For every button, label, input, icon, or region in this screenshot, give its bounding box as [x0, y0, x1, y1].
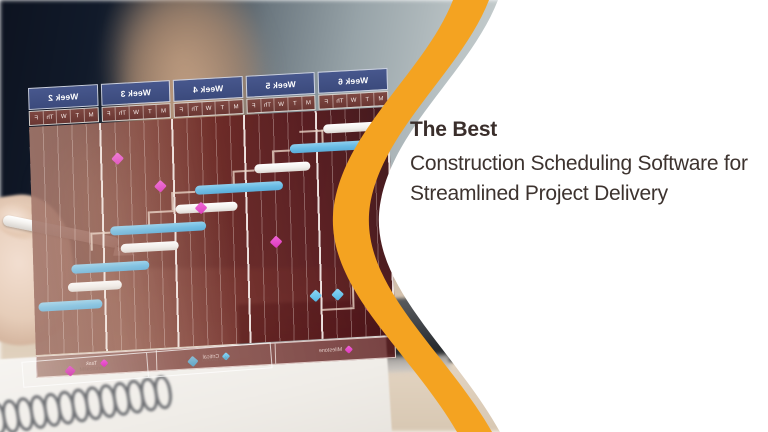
gantt-day-cell: W [129, 106, 143, 120]
gantt-day-cell: T [215, 101, 229, 115]
gantt-day-cell: F [320, 95, 333, 109]
gantt-day-cell: W [274, 98, 288, 112]
gantt-day-cell: Th [260, 98, 274, 112]
gantt-plot-area [29, 107, 395, 355]
gantt-day-cell: T [287, 97, 301, 111]
legend-diamond-icon [65, 365, 76, 376]
gantt-day-cell: Th [187, 102, 201, 116]
gantt-day-cell: W [201, 102, 215, 116]
legend-diamond-icon [187, 356, 198, 367]
gantt-day-cell: T [142, 105, 156, 119]
gantt-week-cell-2: Week 5 [245, 72, 315, 98]
gantt-day-cell: Th [42, 110, 56, 124]
legend-diamond-icon [345, 345, 353, 353]
eyebrow-text: The Best [410, 118, 750, 143]
gantt-day-cell: M [228, 100, 242, 114]
bottom-legend-label: Milestone [79, 365, 103, 373]
gantt-week-cell-1: Week 6 [318, 68, 388, 94]
gantt-chart: Week 6Week 5Week 4Week 3Week 2 MTWThFMTW… [28, 68, 396, 378]
page-title: Construction Scheduling Software for Str… [410, 149, 750, 209]
gantt-week-cell-3: Week 4 [173, 76, 243, 102]
hero-banner: Week 6Week 5Week 4Week 3Week 2 MTWThFMTW… [0, 0, 768, 432]
gantt-day-cell: W [346, 93, 360, 107]
gantt-day-cell: T [70, 109, 84, 123]
photo-depth-of-field-haze [29, 107, 395, 355]
gantt-day-cell: M [301, 96, 315, 110]
gantt-day-cell: M [373, 92, 387, 106]
bottom-legend-label: Deliverable [202, 356, 230, 364]
gantt-week-cell-4: Week 3 [101, 80, 171, 106]
gantt-day-cell: M [156, 104, 170, 118]
gantt-day-cell: F [247, 99, 260, 113]
gantt-day-cell: F [102, 107, 115, 121]
hero-copy: The Best Construction Scheduling Softwar… [410, 118, 750, 208]
gantt-week-cell-5: Week 2 [28, 84, 98, 110]
gantt-day-cell: Th [115, 106, 129, 120]
gantt-day-cell: T [360, 93, 374, 107]
gantt-day-cell: F [30, 111, 43, 125]
gantt-day-cell: Th [332, 94, 346, 108]
gantt-footer-label: Milestone [319, 347, 343, 354]
gantt-day-cell: M [84, 108, 98, 122]
gantt-day-cell: F [175, 103, 188, 117]
gantt-day-cell: W [56, 110, 70, 124]
